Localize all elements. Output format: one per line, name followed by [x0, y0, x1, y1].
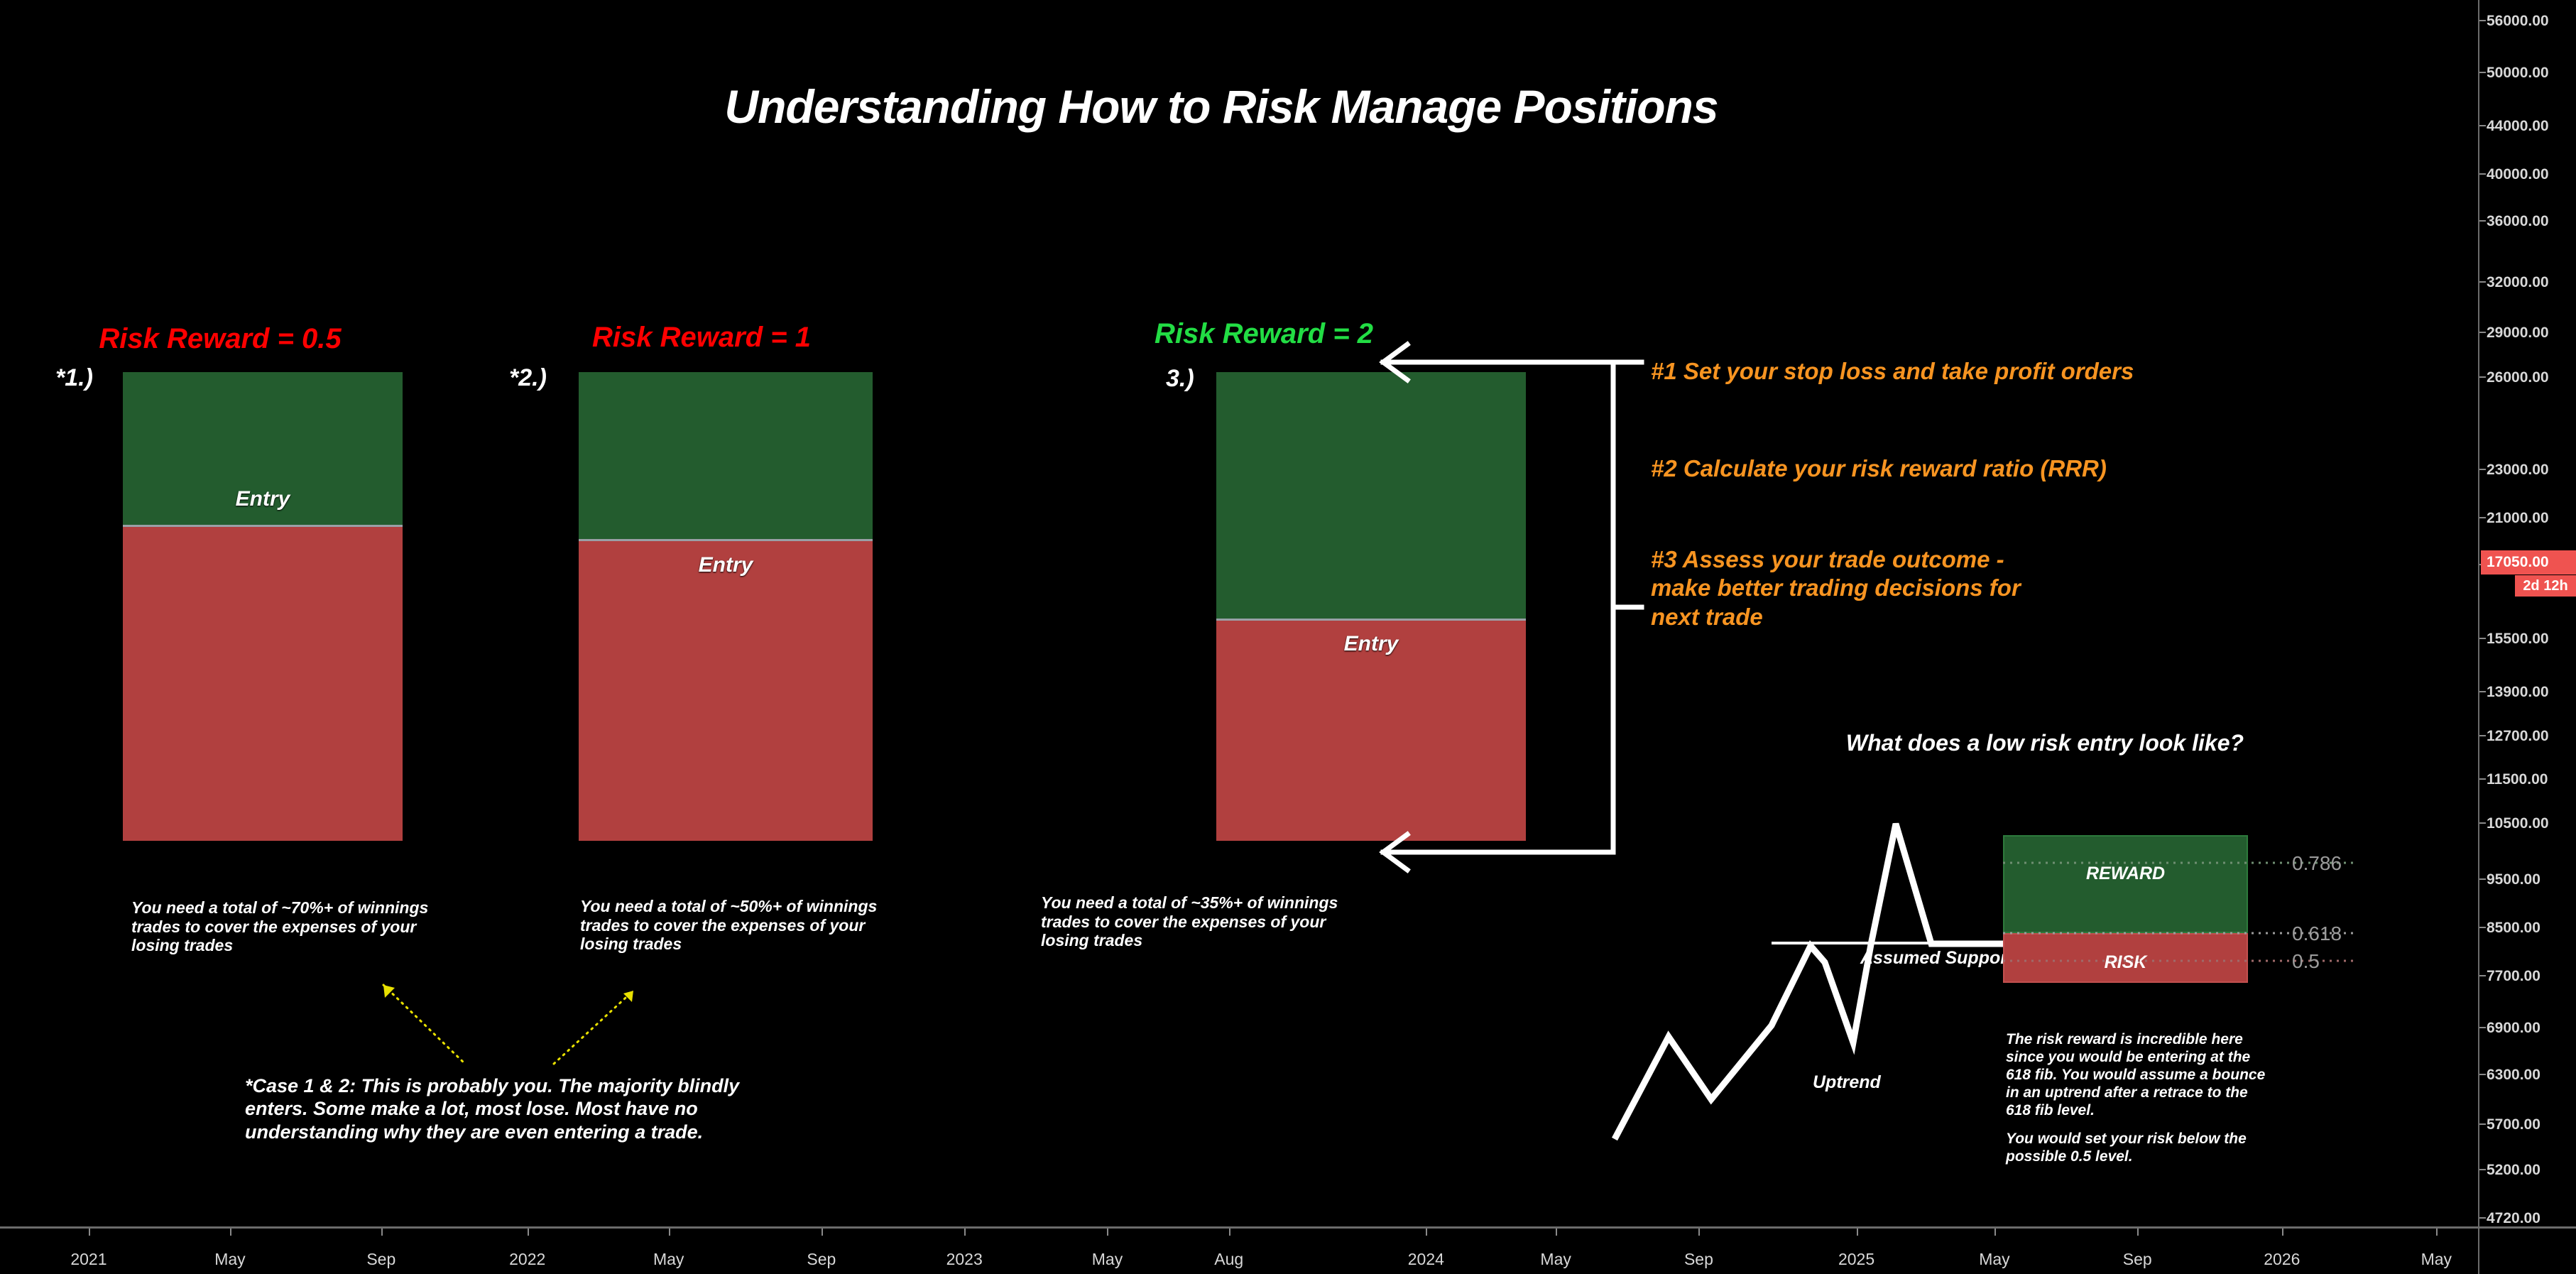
price-tick-dash	[2479, 927, 2486, 928]
time-axis[interactable]: 2021MaySep2022MaySep2023MayAug2024MaySep…	[0, 1226, 2576, 1274]
time-tick-dash	[1698, 1229, 1700, 1236]
bar-1-index-label: *1.)	[55, 364, 93, 392]
fib-level-0786: 0.786	[2292, 852, 2342, 875]
time-tick-dash	[1857, 1229, 1858, 1236]
fib-level-0618: 0.618	[2292, 922, 2342, 945]
current-price-badge[interactable]: 17050.00	[2481, 550, 2576, 575]
price-tick-label: 32000.00	[2487, 274, 2549, 291]
assumed-support-label: Assumed Support	[1860, 948, 2013, 969]
risk-reward-bar-1: Risk Reward = 0.5 *1.) Entry You need a …	[0, 0, 497, 994]
time-tick-label: Sep	[807, 1250, 836, 1269]
fib-level-lines	[2003, 824, 2401, 1008]
price-tick-label: 6900.00	[2487, 1020, 2540, 1037]
price-tick-label: 7700.00	[2487, 968, 2540, 985]
price-tick-dash	[2479, 822, 2486, 824]
time-tick-label: May	[1092, 1250, 1123, 1269]
fib-explanation-note: The risk reward is incredible here since…	[2006, 1031, 2304, 1120]
bar-3-index-label: 3.)	[1166, 365, 1194, 393]
countdown-badge: 2d 12h	[2515, 575, 2576, 597]
fib-risk-placement-note: You would set your risk below the possib…	[2006, 1131, 2304, 1166]
time-tick-label: May	[1540, 1250, 1571, 1269]
price-tick-label: 36000.00	[2487, 213, 2549, 230]
price-tick-dash	[2479, 332, 2486, 333]
time-tick-label: Sep	[366, 1250, 395, 1269]
price-tick-label: 5700.00	[2487, 1116, 2540, 1133]
price-tick-label: 40000.00	[2487, 166, 2549, 183]
bar-2-box[interactable]: Entry	[579, 372, 873, 841]
price-tick-label: 56000.00	[2487, 13, 2549, 30]
price-tick-dash	[2479, 638, 2486, 639]
price-tick-label: 6300.00	[2487, 1067, 2540, 1084]
price-tick-dash	[2479, 778, 2486, 780]
price-tick-dash	[2479, 517, 2486, 518]
price-tick-label: 50000.00	[2487, 65, 2549, 82]
bar-1-heading: Risk Reward = 0.5	[0, 323, 440, 355]
price-tick-label: 44000.00	[2487, 118, 2549, 135]
bar-2-risk-segment	[579, 539, 873, 841]
price-tick-dash	[2479, 1123, 2486, 1125]
bar-1-caption: You need a total of ~70%+ of winnings tr…	[131, 898, 430, 955]
fib-level-05: 0.5	[2292, 950, 2320, 973]
price-tick-label: 23000.00	[2487, 462, 2549, 479]
time-tick-dash	[2282, 1229, 2283, 1236]
price-tick-label: 26000.00	[2487, 369, 2549, 386]
price-tick-label: 21000.00	[2487, 510, 2549, 527]
time-tick-label: 2024	[1408, 1250, 1444, 1269]
time-tick-label: 2022	[509, 1250, 545, 1269]
price-tick-label: 15500.00	[2487, 631, 2549, 648]
bar-1-entry-label: Entry	[123, 487, 403, 511]
low-risk-question-title: What does a low risk entry look like?	[1690, 730, 2400, 756]
bar-2-heading: Risk Reward = 1	[481, 322, 922, 354]
price-tick-label: 4720.00	[2487, 1210, 2540, 1227]
risk-reward-bar-2: Risk Reward = 1 *2.) Entry You need a to…	[454, 0, 951, 994]
case-note-pointer-arrows	[369, 976, 639, 1083]
step-2-calculate-rrr: #2 Calculate your risk reward ratio (RRR…	[1651, 454, 2107, 483]
bar-2-entry-label: Entry	[579, 553, 873, 577]
price-tick-dash	[2479, 281, 2486, 283]
time-tick-dash	[528, 1229, 529, 1236]
price-tick-label: 12700.00	[2487, 728, 2549, 745]
time-tick-dash	[669, 1229, 670, 1236]
time-tick-dash	[1556, 1229, 1557, 1236]
time-tick-label: Sep	[2123, 1250, 2152, 1269]
time-tick-dash	[381, 1229, 383, 1236]
time-tick-label: 2026	[2264, 1250, 2300, 1269]
time-tick-dash	[230, 1229, 231, 1236]
price-tick-label: 29000.00	[2487, 325, 2549, 342]
time-tick-label: May	[653, 1250, 684, 1269]
price-tick-dash	[2479, 1027, 2486, 1028]
price-tick-label: 13900.00	[2487, 684, 2549, 701]
uptrend-label: Uptrend	[1813, 1072, 1881, 1093]
price-tick-label: 8500.00	[2487, 920, 2540, 937]
time-tick-label: 2025	[1838, 1250, 1874, 1269]
bar-2-caption: You need a total of ~50%+ of winnings tr…	[580, 897, 878, 954]
time-tick-dash	[1229, 1229, 1230, 1236]
price-axis[interactable]: 56000.0050000.0044000.0040000.0036000.00…	[2478, 0, 2576, 1226]
price-tick-dash	[2479, 173, 2486, 175]
price-tick-dash	[2479, 125, 2486, 126]
bar-2-index-label: *2.)	[509, 364, 547, 392]
time-tick-dash	[2436, 1229, 2438, 1236]
bar-2-reward-segment	[579, 372, 873, 541]
case-note-text: *Case 1 & 2: This is probably you. The m…	[245, 1074, 742, 1143]
price-tick-dash	[2479, 691, 2486, 692]
price-tick-dash	[2479, 376, 2486, 378]
price-tick-dash	[2479, 220, 2486, 222]
price-tick-dash	[2479, 20, 2486, 21]
time-tick-dash	[1426, 1229, 1427, 1236]
price-tick-label: 9500.00	[2487, 871, 2540, 888]
time-tick-dash	[89, 1229, 90, 1236]
axis-corner-divider	[2478, 1226, 2479, 1274]
bar-1-risk-segment	[123, 525, 403, 841]
price-tick-label: 10500.00	[2487, 815, 2549, 832]
time-tick-dash	[1107, 1229, 1108, 1236]
time-tick-label: 2023	[946, 1250, 983, 1269]
bar-3-caption: You need a total of ~35%+ of winnings tr…	[1041, 893, 1339, 950]
bracket-arrows	[1349, 341, 1647, 881]
step-3-assess-outcome: #3 Assess your trade outcome - make bett…	[1651, 545, 2021, 631]
time-tick-dash	[2137, 1229, 2139, 1236]
price-tick-label: 11500.00	[2487, 771, 2548, 788]
time-tick-label: 2021	[70, 1250, 107, 1269]
price-tick-dash	[2479, 1217, 2486, 1219]
bar-1-box[interactable]: Entry	[123, 372, 403, 841]
time-tick-label: May	[1979, 1250, 2009, 1269]
price-tick-dash	[2479, 72, 2486, 73]
time-tick-dash	[822, 1229, 823, 1236]
price-tick-label: 5200.00	[2487, 1162, 2540, 1179]
price-tick-dash	[2479, 735, 2486, 736]
price-tick-dash	[2479, 1169, 2486, 1170]
step-1-set-orders: #1 Set your stop loss and take profit or…	[1651, 357, 2134, 386]
time-tick-label: Sep	[1684, 1250, 1713, 1269]
time-tick-label: May	[214, 1250, 245, 1269]
chart-canvas: Understanding How to Risk Manage Positio…	[0, 0, 2576, 1274]
price-tick-dash	[2479, 1074, 2486, 1075]
price-tick-dash	[2479, 469, 2486, 470]
price-tick-dash	[2479, 975, 2486, 976]
time-tick-dash	[1994, 1229, 1996, 1236]
price-tick-dash	[2479, 878, 2486, 880]
time-tick-label: May	[2421, 1250, 2452, 1269]
time-tick-label: Aug	[1214, 1250, 1243, 1269]
time-tick-dash	[964, 1229, 966, 1236]
